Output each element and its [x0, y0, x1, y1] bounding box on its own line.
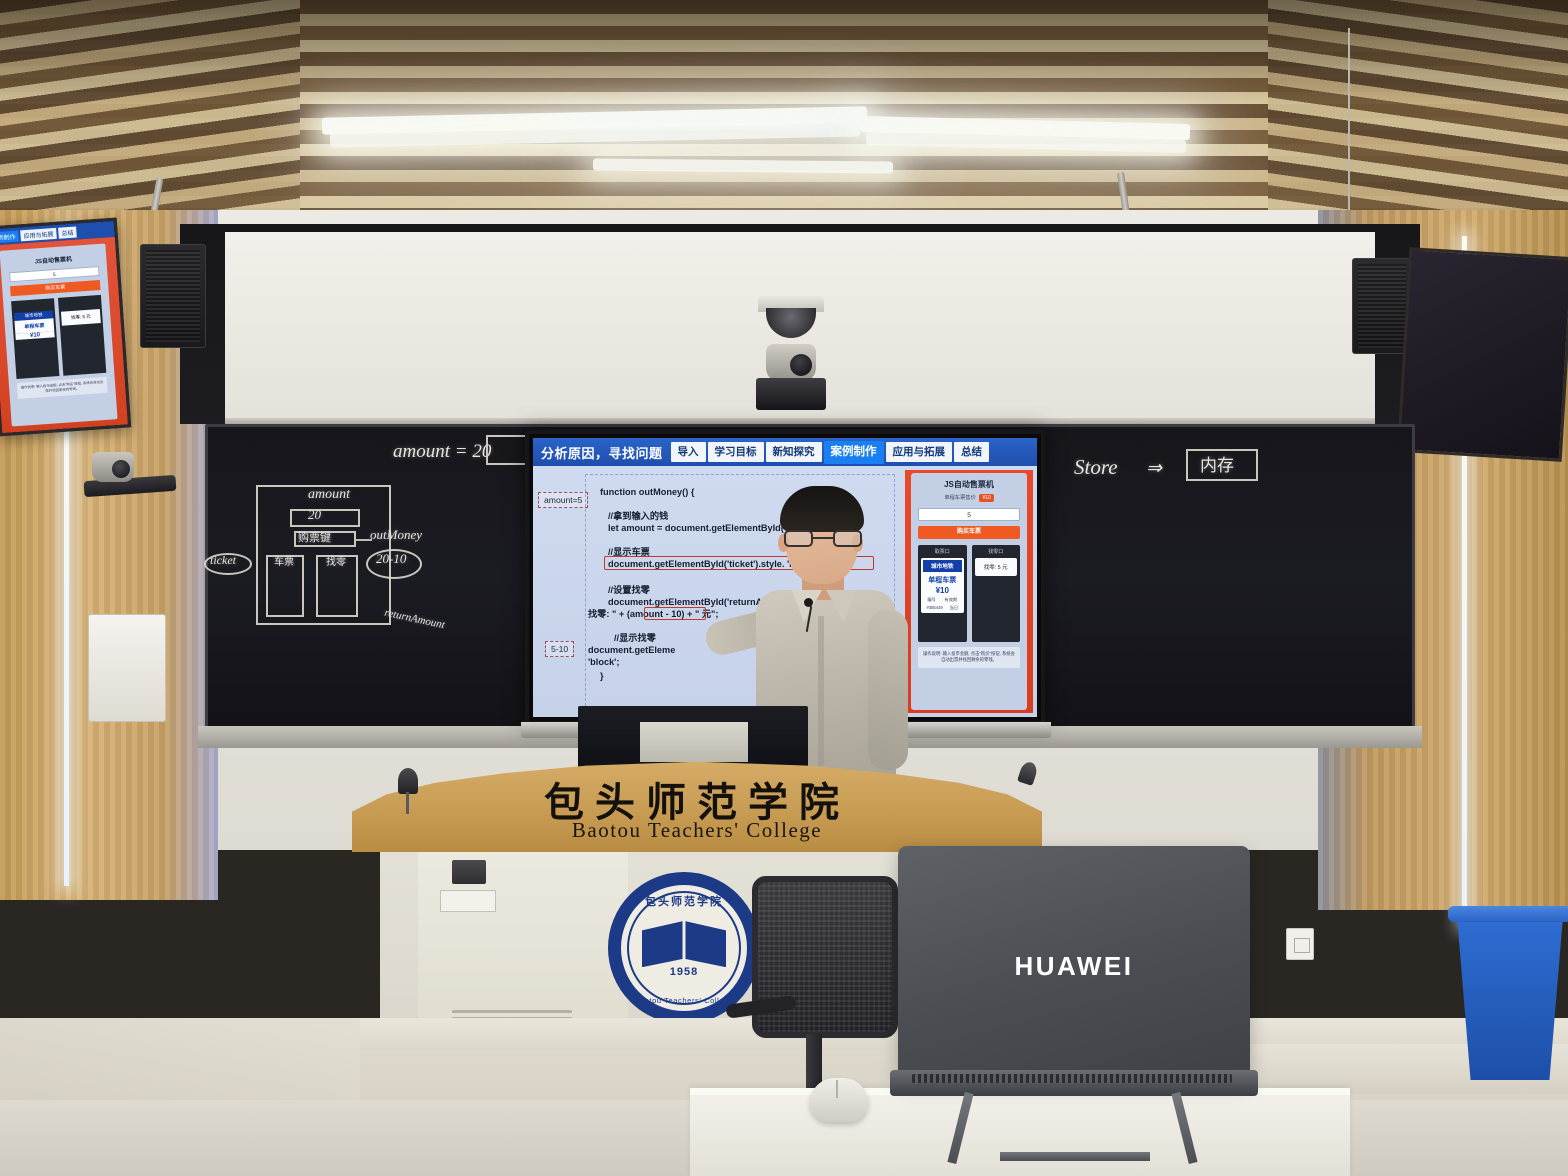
chalk-store-note: Store	[1074, 455, 1118, 480]
dome-camera-lens	[766, 308, 816, 338]
demo-subtitle: 单程车票售价	[944, 495, 976, 501]
podium-monitor-panel	[640, 722, 748, 762]
trash-bin-rim	[1448, 906, 1568, 922]
code-line-0: function outMoney() {	[600, 487, 694, 498]
chalk-ticket-label: 车票	[274, 553, 294, 568]
slide-tabbar: 导入 学习目标 新知探究 案例制作 应用与拓展 总结	[671, 438, 990, 466]
ptz-conference-camera	[756, 344, 826, 410]
ptz-camera-head	[766, 344, 816, 382]
front-table	[690, 1088, 1350, 1176]
slide-header: 分析原因，寻找问题 导入 学习目标 新知探究 案例制作 应用与拓展 总结	[533, 438, 1037, 466]
code-line-5: //设置找零	[608, 585, 650, 596]
college-seal-bottom-text: Baotou Teachers' College	[621, 996, 747, 1005]
ptz-camera-body	[92, 452, 134, 482]
eyeglasses	[784, 530, 862, 547]
demo-change-column: 找零口 找零: 5 元	[972, 545, 1021, 642]
code-line-11: }	[600, 671, 604, 682]
callout-change-calc: 5-10	[545, 641, 574, 657]
eyeglass-lens-left	[784, 530, 813, 547]
instructor-hair	[780, 486, 864, 532]
slide-tab-application[interactable]: 应用与拓展	[886, 442, 953, 462]
slide-tab-objectives[interactable]: 学习目标	[708, 442, 764, 462]
wall-control-panel[interactable]	[88, 614, 166, 722]
chalk-arrow-symbol: ⇒	[1146, 457, 1162, 480]
podium-microphone-stem	[406, 792, 409, 814]
wall-monitor-col-left: 城市地铁 单程车票 ¥10	[11, 298, 59, 379]
mouse-scroll-divider	[836, 1080, 838, 1098]
dome-camera	[758, 296, 824, 338]
demo-price-badge: ¥10	[979, 494, 993, 502]
college-seal-top-text: 包头师范学院	[621, 893, 747, 909]
highlight-box-expression	[644, 607, 706, 620]
laptop-vent	[912, 1074, 1232, 1083]
chalk-button-label: 购票键	[298, 529, 331, 545]
chalk-var-label: amount	[308, 487, 350, 503]
chalk-input-box	[290, 509, 360, 527]
wall-monitor-demo-buy-button[interactable]: 购买车票	[10, 280, 100, 296]
demo-change-card: 找零: 5 元	[975, 558, 1018, 576]
chalk-ticket-word: ticket	[210, 553, 236, 568]
trash-bin	[1452, 912, 1568, 1080]
chalk-amount-note: amount = 20	[393, 441, 491, 463]
wall-monitor-tab-1[interactable]: 应用与拓展	[20, 227, 57, 240]
wall-monitor-tab-0[interactable]: 案例制作	[0, 230, 19, 243]
wall-tv-right-off[interactable]	[1397, 247, 1568, 462]
chalk-func-label: outMoney	[370, 527, 422, 543]
ticket-field-b-label: 有效期	[945, 597, 958, 603]
chalk-var-value: 20	[308, 507, 321, 523]
slide-title: 分析原因，寻找问题	[533, 443, 671, 462]
wall-monitor-note: 操作说明: 输入投币金额, 点击"购买"按钮, 系统会自动出票并找回剩余的零钱。	[17, 377, 108, 399]
speaker-left	[140, 244, 206, 348]
code-line-8: //显示找零	[614, 633, 656, 644]
wall-monitor-ticket-price: ¥10	[15, 331, 54, 340]
wall-monitor-phone-mock: JS自动售票机 5 购买车票 城市地铁 单程车票 ¥10 找零: 5 元 操作说…	[0, 243, 118, 426]
podium-device-plate	[452, 860, 486, 884]
podium-name-en: Baotou Teachers' College	[352, 818, 1042, 843]
podium-label-sticker	[440, 890, 496, 912]
ticket-field-b-value: 当日	[950, 605, 958, 611]
computer-mouse[interactable]	[810, 1078, 868, 1122]
laptop-brand-logo: HUAWEI	[898, 951, 1250, 982]
chalk-math-note: 20-10	[376, 551, 406, 567]
college-seal: 包头师范学院 1958 Baotou Teachers' College	[608, 872, 760, 1024]
slide-tab-summary[interactable]: 总结	[954, 442, 989, 462]
slide-tab-import[interactable]: 导入	[671, 442, 706, 462]
slide-tab-explore[interactable]: 新知探究	[766, 442, 822, 462]
classroom-scene: 案例制作 应用与拓展 总结 JS自动售票机 5 购买车票 城市地铁 单程车票 ¥…	[0, 0, 1568, 1176]
chalk-return-word: returnAmount	[383, 607, 445, 631]
ptz-camera-lens-left	[112, 460, 130, 478]
podium-microphone-left	[398, 768, 418, 794]
wall-monitor-tab-2[interactable]: 总结	[58, 226, 77, 238]
college-seal-year: 1958	[621, 966, 747, 978]
wall-monitor-demo-input[interactable]: 5	[9, 266, 99, 282]
chalk-change-label: 找零	[326, 553, 346, 568]
chalk-memory-note: 内存	[1200, 451, 1234, 476]
demo-change-column-header: 找零口	[975, 548, 1018, 555]
wall-monitor-left[interactable]: 案例制作 应用与拓展 总结 JS自动售票机 5 购买车票 城市地铁 单程车票 ¥…	[0, 218, 131, 437]
instructor-right-arm	[868, 610, 908, 770]
chalk-arrow-to-func	[356, 539, 372, 541]
ptz-camera-lens	[790, 354, 812, 376]
ceiling-wire	[1348, 28, 1350, 228]
ptz-camera-base	[756, 378, 826, 410]
callout-amount-value: amount=5	[538, 492, 588, 508]
eyeglass-bridge	[813, 537, 833, 539]
laptop-stand-crossbar	[1000, 1152, 1150, 1161]
slide-tab-case-production[interactable]: 案例制作	[824, 441, 884, 464]
instructor-shirt-placket	[818, 616, 824, 766]
office-chair-back[interactable]	[752, 876, 898, 1038]
wall-monitor-demo-title: JS自动售票机	[4, 252, 102, 268]
wall-monitor-content: JS自动售票机 5 购买车票 城市地铁 单程车票 ¥10 找零: 5 元 操作说…	[0, 237, 128, 433]
laptop-lid[interactable]: HUAWEI	[898, 846, 1250, 1080]
power-socket	[1286, 928, 1314, 960]
wall-monitor-col-right: 找零: 5 元	[58, 295, 106, 376]
eyeglass-lens-right	[833, 530, 862, 547]
wall-monitor-change-text: 找零: 5 元	[61, 309, 101, 326]
code-line-10: 'block';	[588, 657, 619, 668]
code-line-9: document.getEleme	[588, 645, 675, 656]
code-line-1: //拿到输入的钱	[608, 511, 668, 522]
wall-ptz-camera-left	[84, 452, 142, 500]
